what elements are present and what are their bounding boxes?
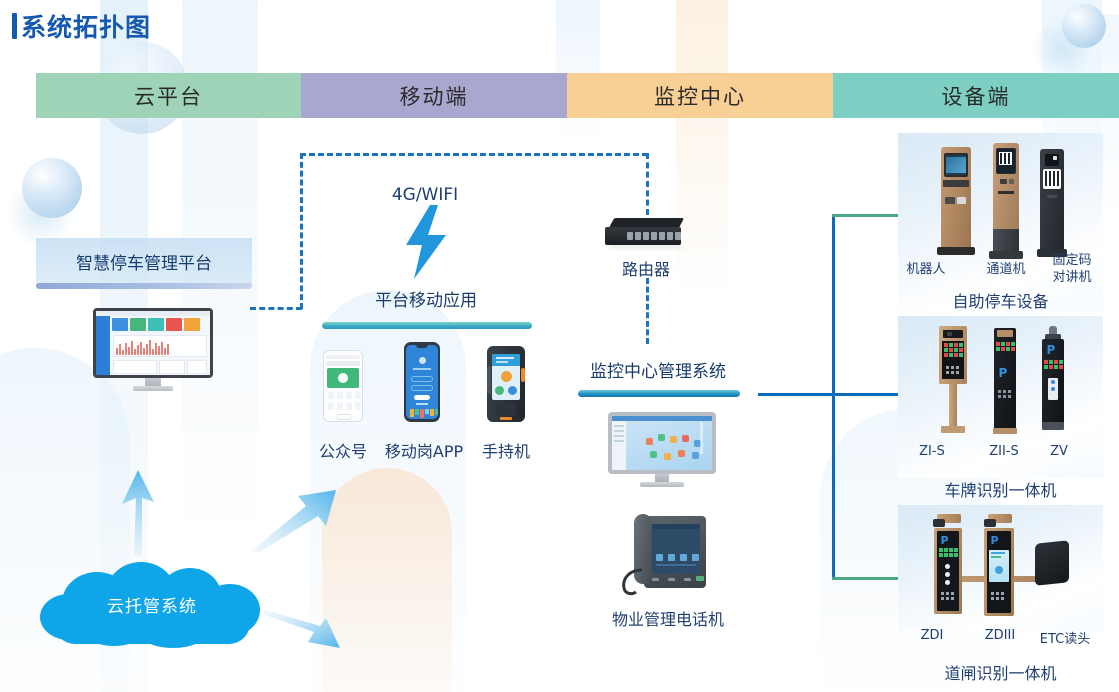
band-label: 云平台	[134, 81, 203, 111]
smartphone-app-login-icon	[404, 342, 440, 422]
connector-center-to-trunk	[758, 393, 835, 396]
lightning-bolt-icon	[404, 205, 448, 279]
cloud-hosting-system: 云托管系统	[40, 560, 264, 648]
band-mobile[interactable]: 移动端	[301, 73, 567, 118]
desktop-monitor-dashboard	[93, 308, 213, 392]
desk-phone-icon	[620, 512, 714, 596]
mobile-device-label-0: 公众号	[313, 438, 373, 462]
mobile-section-title: 平台移动应用	[326, 286, 526, 311]
connector-equipment-trunk	[832, 214, 835, 580]
fixed-code-intercom-icon	[1037, 149, 1067, 259]
bg-circle-left	[22, 158, 82, 218]
connector-dashed-riser	[300, 153, 303, 309]
connector-branch-bottom	[832, 577, 898, 580]
band-label: 移动端	[400, 81, 469, 111]
equipment-row-lpr: P P	[898, 324, 1103, 436]
equipment-item-label-0-0: 机器人	[898, 258, 954, 277]
band-label: 设备端	[942, 81, 1011, 111]
connector-dashed-router-lower	[646, 278, 649, 344]
page-title-text: 系统拓扑图	[21, 8, 151, 44]
barrier-gate-zdi-icon: P	[929, 514, 967, 620]
equipment-item-label-2-2: ETC读头	[1032, 628, 1098, 647]
equipment-item-label-2-0: ZDI	[906, 628, 958, 643]
band-equipment[interactable]: 设备端	[833, 73, 1119, 118]
connector-branch-middle	[832, 393, 898, 396]
cloud-arrow-lower-right	[262, 610, 342, 656]
bg-vertical-band-3	[676, 0, 728, 300]
bg-circle-top-right	[1062, 4, 1106, 48]
cloud-arrow-up	[108, 468, 164, 556]
self-service-robot-kiosk-icon	[935, 147, 975, 259]
cloud-arrow-upper-right	[250, 486, 340, 552]
equipment-group-label-0: 自助停车设备	[898, 288, 1103, 312]
lpr-terminal-zis-icon	[936, 326, 970, 436]
page-title: 系统拓扑图	[12, 8, 151, 44]
equipment-item-label-1-0: ZI-S	[906, 444, 958, 459]
equipment-item-label-1-2: ZV	[1036, 444, 1082, 459]
network-switch-icon	[605, 214, 687, 254]
connector-dashed-platform	[250, 307, 302, 310]
equipment-item-label-1-1: ZII-S	[978, 444, 1030, 459]
cloud-hosting-label: 云托管系统	[40, 592, 264, 617]
section-header-bands: 云平台 移动端 监控中心 设备端	[36, 73, 1119, 118]
equipment-item-label-0-2-line2: 对讲机	[1044, 266, 1100, 285]
etc-reader-icon	[1033, 514, 1071, 620]
band-label: 监控中心	[654, 81, 746, 111]
system-topology-diagram: 系统拓扑图 云平台 移动端 监控中心 设备端 智慧停车管理平台	[0, 0, 1119, 692]
connector-branch-top	[832, 214, 898, 217]
lpr-terminal-ziis-icon: P	[992, 328, 1018, 436]
network-label: 4G/WIFI	[330, 185, 520, 205]
property-phone-label: 物业管理电话机	[586, 606, 750, 630]
monitor-center-title: 监控中心管理系统	[570, 357, 746, 382]
title-accent-bar	[12, 13, 17, 39]
bg-arch-peach	[322, 468, 452, 692]
connector-dashed-top	[300, 153, 648, 156]
mobile-section-bar	[322, 322, 532, 329]
router-label: 路由器	[602, 256, 690, 280]
platform-heading: 智慧停车管理平台	[36, 249, 252, 274]
monitor-center-bar	[578, 390, 740, 397]
lpr-terminal-zv-icon: P	[1040, 326, 1066, 436]
connector-dashed-router-upper	[646, 153, 649, 215]
handheld-terminal-icon	[487, 346, 525, 422]
mobile-device-label-1: 移动岗APP	[378, 438, 470, 462]
equipment-row-self-service	[898, 143, 1103, 259]
equipment-item-label-2-1: ZDIII	[972, 628, 1028, 643]
bg-glow-top-right	[1030, 16, 1094, 80]
bg-vertical-band-5	[556, 0, 600, 140]
equipment-group-label-2: 道闸识别一体机	[898, 660, 1103, 684]
mobile-device-label-2: 手持机	[476, 438, 536, 462]
smartphone-wechat-icon	[323, 350, 363, 422]
desktop-monitor-topology-icon	[608, 412, 716, 488]
equipment-item-label-0-1: 通道机	[978, 258, 1034, 277]
band-monitor-center[interactable]: 监控中心	[567, 73, 833, 118]
band-cloud-platform[interactable]: 云平台	[36, 73, 301, 118]
equipment-row-barrier: P P	[898, 512, 1103, 620]
equipment-group-label-1: 车牌识别一体机	[898, 477, 1103, 501]
platform-heading-bar	[36, 283, 252, 289]
channel-kiosk-icon	[989, 143, 1023, 259]
barrier-gate-zdiii-icon: P	[979, 514, 1019, 620]
